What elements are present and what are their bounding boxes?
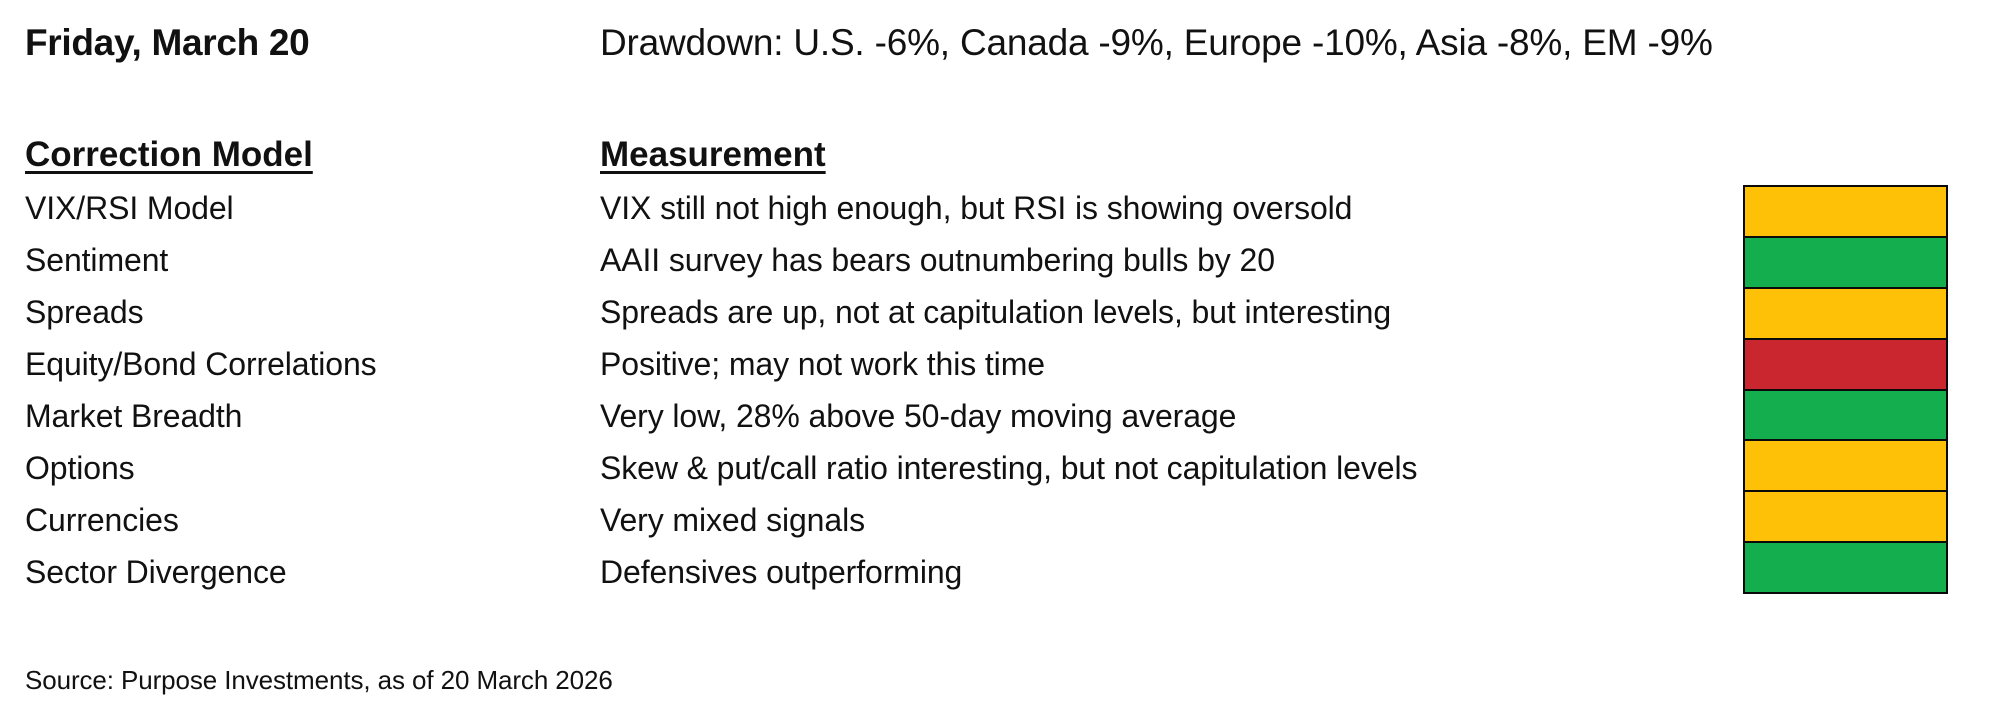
correction-model-table: VIX/RSI ModelVIX still not high enough, … <box>0 186 2000 602</box>
cell-correction-model: VIX/RSI Model <box>25 190 234 227</box>
correction-model-slide: Friday, March 20 Drawdown: U.S. -6%, Can… <box>0 0 2000 724</box>
status-block-amber <box>1743 287 1948 340</box>
table-row: VIX/RSI ModelVIX still not high enough, … <box>0 186 2000 238</box>
status-block-amber <box>1743 490 1948 543</box>
status-block-red <box>1743 338 1948 391</box>
table-row: Market BreadthVery low, 28% above 50-day… <box>0 394 2000 446</box>
cell-correction-model: Sentiment <box>25 242 168 279</box>
cell-correction-model: Equity/Bond Correlations <box>25 346 377 383</box>
table-row: Equity/Bond CorrelationsPositive; may no… <box>0 342 2000 394</box>
status-indicator-column <box>1743 185 1948 594</box>
source-note: Source: Purpose Investments, as of 20 Ma… <box>25 665 613 696</box>
status-block-green <box>1743 541 1948 594</box>
report-date: Friday, March 20 <box>25 22 309 64</box>
header-row: Friday, March 20 Drawdown: U.S. -6%, Can… <box>0 22 2000 82</box>
cell-measurement: Skew & put/call ratio interesting, but n… <box>600 450 1417 487</box>
cell-correction-model: Market Breadth <box>25 398 242 435</box>
cell-measurement: Defensives outperforming <box>600 554 962 591</box>
cell-correction-model: Spreads <box>25 294 144 331</box>
table-row: OptionsSkew & put/call ratio interesting… <box>0 446 2000 498</box>
column-header-correction-model: Correction Model <box>25 135 313 175</box>
status-block-green <box>1743 389 1948 442</box>
table-row: CurrenciesVery mixed signals <box>0 498 2000 550</box>
cell-correction-model: Currencies <box>25 502 179 539</box>
cell-measurement: VIX still not high enough, but RSI is sh… <box>600 190 1352 227</box>
cell-measurement: Very mixed signals <box>600 502 865 539</box>
cell-measurement: AAII survey has bears outnumbering bulls… <box>600 242 1275 279</box>
cell-correction-model: Sector Divergence <box>25 554 287 591</box>
table-row: SpreadsSpreads are up, not at capitulati… <box>0 290 2000 342</box>
status-block-amber <box>1743 185 1948 238</box>
table-row: SentimentAAII survey has bears outnumber… <box>0 238 2000 290</box>
table-row: Sector DivergenceDefensives outperformin… <box>0 550 2000 602</box>
cell-measurement: Spreads are up, not at capitulation leve… <box>600 294 1391 331</box>
drawdown-summary: Drawdown: U.S. -6%, Canada -9%, Europe -… <box>600 22 1713 64</box>
status-block-green <box>1743 236 1948 289</box>
cell-measurement: Positive; may not work this time <box>600 346 1045 383</box>
status-block-amber <box>1743 439 1948 492</box>
cell-correction-model: Options <box>25 450 135 487</box>
column-header-measurement: Measurement <box>600 135 826 175</box>
cell-measurement: Very low, 28% above 50-day moving averag… <box>600 398 1236 435</box>
